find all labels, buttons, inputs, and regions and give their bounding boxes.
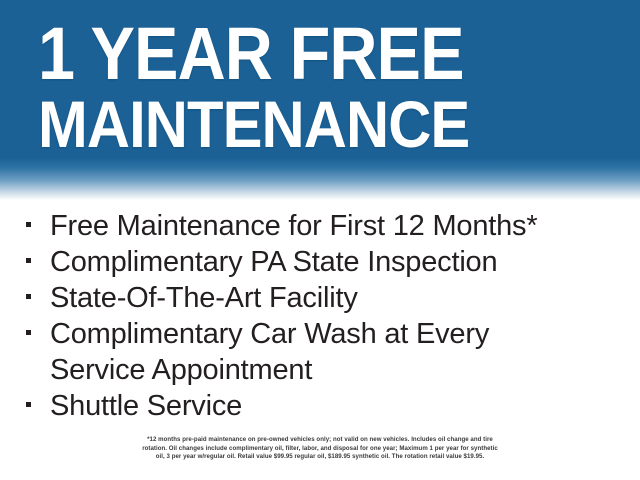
feature-list: Free Maintenance for First 12 Months* Co… bbox=[0, 208, 640, 424]
headline-line-1: 1 YEAR FREE bbox=[38, 18, 565, 90]
bullet-square-icon bbox=[26, 258, 31, 263]
feature-text: Free Maintenance for First 12 Months* bbox=[50, 208, 640, 244]
feature-text: Complimentary PA State Inspection bbox=[50, 244, 640, 280]
headline-block: 1 YEAR FREE MAINTENANCE bbox=[38, 18, 624, 156]
promotional-ad-card: 1 YEAR FREE MAINTENANCE Free Maintenance… bbox=[0, 0, 640, 480]
header-banner: 1 YEAR FREE MAINTENANCE bbox=[0, 0, 640, 200]
feature-text: Complimentary Car Wash at Every bbox=[50, 316, 640, 352]
bullet-square-icon bbox=[26, 402, 31, 407]
feature-text: Shuttle Service bbox=[50, 388, 640, 424]
disclaimer-line-2: rotation. Oil changes include compliment… bbox=[34, 445, 606, 454]
list-item: Shuttle Service bbox=[0, 388, 640, 424]
headline-line-2: MAINTENANCE bbox=[38, 92, 568, 156]
disclaimer-fine-print: *12 months pre-paid maintenance on pre-o… bbox=[34, 436, 606, 462]
list-item: Free Maintenance for First 12 Months* bbox=[0, 208, 640, 244]
bullet-square-icon bbox=[26, 222, 31, 227]
feature-text-continuation: Service Appointment bbox=[50, 352, 640, 388]
bullet-square-icon bbox=[26, 330, 31, 335]
list-item: State-Of-The-Art Facility bbox=[0, 280, 640, 316]
bullet-square-icon bbox=[26, 294, 31, 299]
feature-text: State-Of-The-Art Facility bbox=[50, 280, 640, 316]
disclaimer-line-1: *12 months pre-paid maintenance on pre-o… bbox=[34, 436, 606, 445]
disclaimer-line-3: oil, 3 per year w/regular oil. Retail va… bbox=[34, 453, 606, 462]
list-item: Complimentary PA State Inspection bbox=[0, 244, 640, 280]
list-item: Complimentary Car Wash at Every Service … bbox=[0, 316, 640, 388]
